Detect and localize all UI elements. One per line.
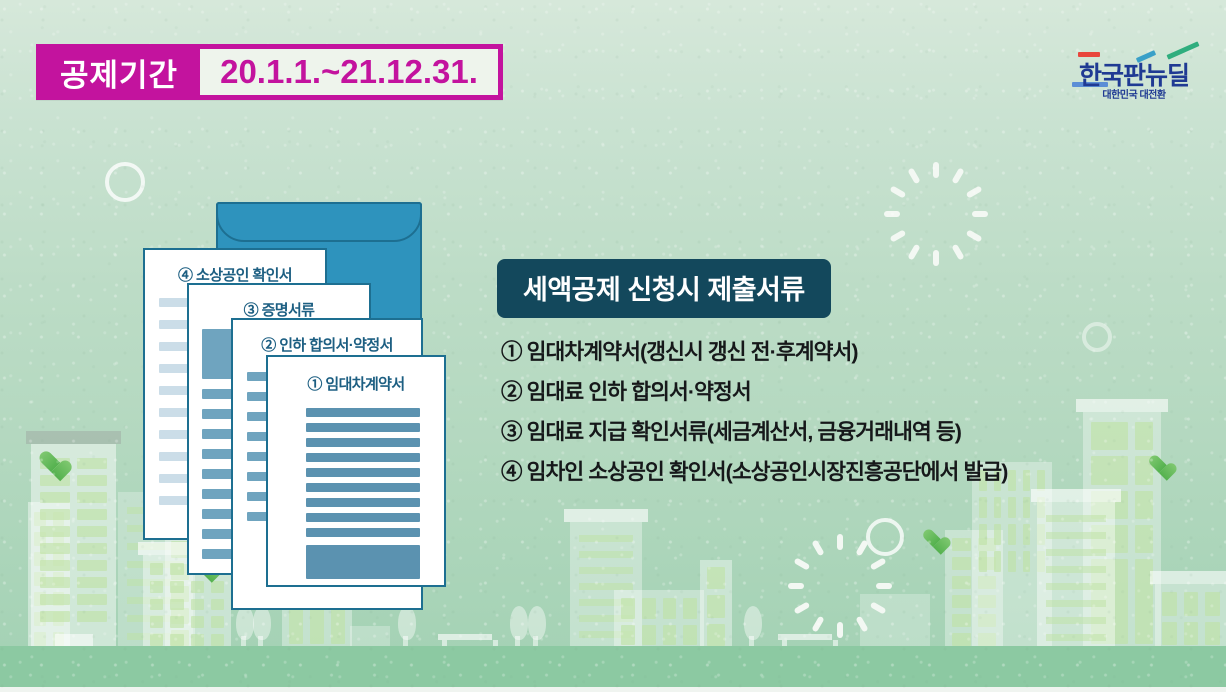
building-window xyxy=(621,598,635,619)
building-window xyxy=(1184,592,1199,616)
envelope-flap xyxy=(216,202,422,242)
building-window xyxy=(1023,551,1031,572)
building-window xyxy=(77,526,107,537)
building-window xyxy=(77,560,107,571)
building-window xyxy=(1205,622,1220,646)
building-band xyxy=(1046,532,1106,539)
building-window xyxy=(952,633,971,646)
building-window xyxy=(191,616,204,628)
building-band xyxy=(1046,549,1106,556)
list-item: ① 임대차계약서(갱신시 갱신 전·후계약서) xyxy=(501,332,1141,372)
building-window xyxy=(77,492,107,503)
required-documents-list: ① 임대차계약서(갱신시 갱신 전·후계약서) ② 임대료 인하 합의서·약정서… xyxy=(501,332,1141,492)
building-window xyxy=(994,551,1002,572)
building-window xyxy=(707,567,725,589)
building-window xyxy=(289,604,303,644)
building-window xyxy=(40,594,70,605)
building xyxy=(700,560,732,652)
building-window xyxy=(310,604,324,644)
building-window xyxy=(150,581,163,593)
building-window xyxy=(170,616,183,628)
document-text-block xyxy=(202,329,234,379)
building-window xyxy=(150,634,163,646)
building xyxy=(1037,502,1115,652)
building-band xyxy=(579,551,633,558)
building-window xyxy=(994,524,1002,545)
document-text-line xyxy=(306,513,420,522)
logo-subtitle: 대한민국 대전환 xyxy=(1066,86,1202,101)
circle-decoration xyxy=(105,162,145,202)
building-window xyxy=(1023,497,1031,518)
building-band xyxy=(579,583,633,590)
building-window xyxy=(77,611,107,622)
building-band xyxy=(1046,634,1106,641)
building-window xyxy=(1135,491,1153,519)
document-card-1: ① 임대차계약서 xyxy=(266,355,446,587)
document-text-line xyxy=(202,429,234,439)
building-window xyxy=(1008,524,1016,545)
building-window xyxy=(331,604,345,644)
document-text-line xyxy=(202,409,234,419)
building-window xyxy=(40,543,70,554)
building-window xyxy=(1205,592,1220,616)
building-window xyxy=(191,634,204,646)
building-window xyxy=(1008,551,1016,572)
building-window xyxy=(952,595,971,608)
building-window xyxy=(191,599,204,611)
building-window xyxy=(211,581,224,593)
document-text-line xyxy=(306,438,420,447)
building-window xyxy=(40,492,70,503)
list-item: ④ 임차인 소상공인 확인서(소상공인시장진흥공단에서 발급) xyxy=(501,452,1141,492)
building-window xyxy=(642,625,656,646)
building-window xyxy=(170,634,183,646)
building-window xyxy=(40,560,70,571)
building-window xyxy=(663,598,677,619)
heart-icon xyxy=(1148,456,1170,476)
document-text-line xyxy=(306,408,420,417)
document-title: ② 인하 합의서·약정서 xyxy=(233,334,421,355)
panel-heading: 세액공제 신청시 제출서류 xyxy=(497,259,831,318)
document-text-line xyxy=(202,509,234,519)
building-window xyxy=(707,595,725,617)
building-window xyxy=(40,611,70,622)
building-window xyxy=(663,625,677,646)
building-window xyxy=(40,509,70,520)
sunburst-decoration xyxy=(802,534,878,638)
building-band xyxy=(1046,566,1106,573)
building-roof xyxy=(1150,571,1226,584)
building-window xyxy=(621,625,635,646)
document-text-line xyxy=(202,469,234,479)
document-text-line xyxy=(306,528,420,537)
building-band xyxy=(1046,583,1106,590)
building-window xyxy=(642,598,656,619)
building-window xyxy=(40,526,70,537)
list-item: ② 임대료 인하 합의서·약정서 xyxy=(501,372,1141,412)
document-text-line xyxy=(202,549,234,559)
document-text-line xyxy=(202,389,234,399)
document-title: ① 임대차계약서 xyxy=(268,373,444,394)
document-title: ④ 소상공인 확인서 xyxy=(145,264,325,285)
building-window xyxy=(170,581,183,593)
heart-icon xyxy=(922,530,944,550)
sunburst-decoration xyxy=(898,162,974,266)
building-window xyxy=(77,475,107,486)
badge-value: 20.1.1.~21.12.31. xyxy=(200,49,498,95)
document-text-line xyxy=(306,498,420,507)
document-text-line xyxy=(306,483,420,492)
building-window xyxy=(170,563,183,575)
heart-icon xyxy=(38,452,64,476)
building-window xyxy=(77,594,107,605)
list-item: ③ 임대료 지급 확인서류(세금계산서, 금융거래내역 등) xyxy=(501,412,1141,452)
ground-baseline xyxy=(0,687,1226,692)
building-window xyxy=(170,599,183,611)
building-window xyxy=(979,524,987,545)
building-window xyxy=(952,557,971,570)
building-window xyxy=(1135,525,1153,553)
document-title: ③ 증명서류 xyxy=(189,299,369,320)
document-text-line xyxy=(306,423,420,432)
building-window xyxy=(979,497,987,518)
building-window xyxy=(952,538,971,551)
building-window xyxy=(707,624,725,646)
building-window xyxy=(979,551,987,572)
infographic-canvas: 공제기간 20.1.1.~21.12.31. 한국판뉴딜 대한민국 대전환 ④ … xyxy=(0,0,1226,692)
building-roof xyxy=(564,509,648,522)
building xyxy=(1155,584,1226,652)
building-window xyxy=(952,614,971,627)
document-text-line xyxy=(202,449,234,459)
building-window xyxy=(1162,622,1177,646)
building-window xyxy=(994,497,1002,518)
building-band xyxy=(579,535,633,542)
building-window xyxy=(683,598,697,619)
ground-band xyxy=(0,646,1226,692)
document-text-line xyxy=(202,529,234,539)
document-text-block xyxy=(306,545,420,579)
building-window xyxy=(150,616,163,628)
building xyxy=(614,590,704,652)
building-band xyxy=(1046,600,1106,607)
building-window xyxy=(77,577,107,588)
building-band xyxy=(1046,515,1106,522)
building-window xyxy=(77,458,107,469)
korean-new-deal-logo: 한국판뉴딜 대한민국 대전환 xyxy=(1066,44,1202,106)
building-window xyxy=(1008,497,1016,518)
building-band xyxy=(579,567,633,574)
building-window xyxy=(211,599,224,611)
document-text-line xyxy=(202,489,234,499)
building-window xyxy=(40,577,70,588)
building-window xyxy=(150,599,163,611)
building-window xyxy=(77,509,107,520)
building-window xyxy=(1023,524,1031,545)
building-band xyxy=(1046,617,1106,624)
building-window xyxy=(191,581,204,593)
building-window xyxy=(150,563,163,575)
building-window xyxy=(77,543,107,554)
deduction-period-badge: 공제기간 20.1.1.~21.12.31. xyxy=(36,44,503,100)
building-window xyxy=(952,576,971,589)
document-text-line xyxy=(306,453,420,462)
building-roof xyxy=(26,431,121,444)
building-window xyxy=(1162,592,1177,616)
building-window xyxy=(1184,622,1199,646)
badge-label: 공제기간 xyxy=(36,44,200,100)
building-window xyxy=(683,625,697,646)
document-text-line xyxy=(306,468,420,477)
building-window xyxy=(211,634,224,646)
building-window xyxy=(211,616,224,628)
